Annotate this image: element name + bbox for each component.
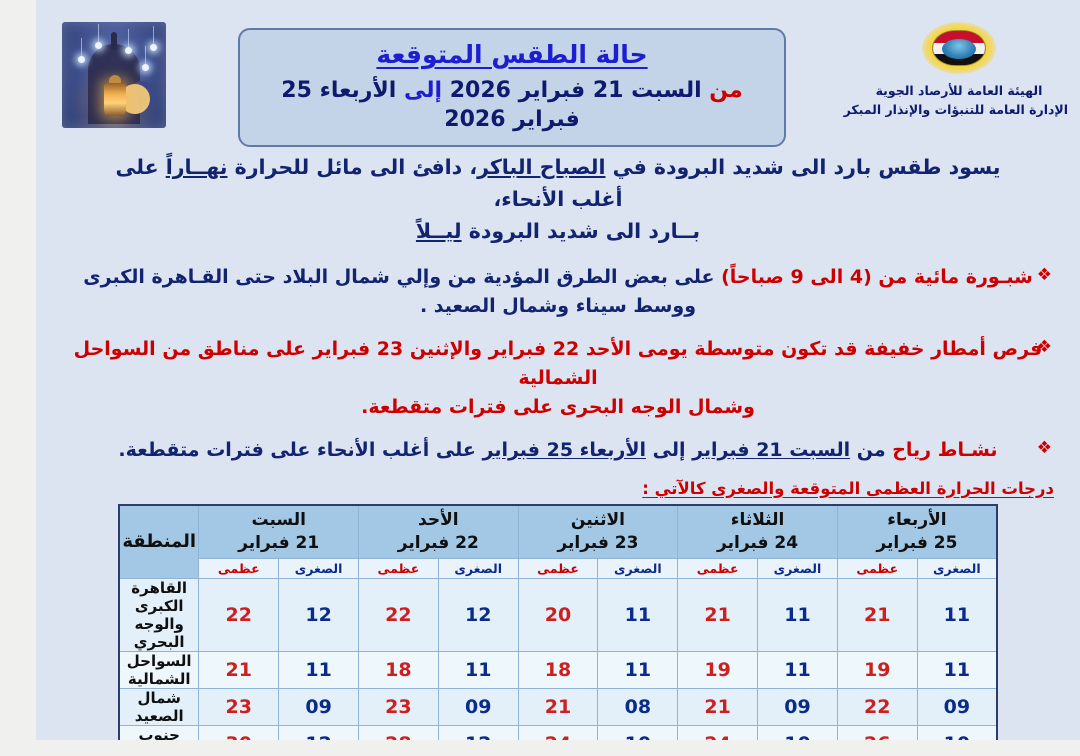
- table-head-sub-row: الصغرى عظمى الصغرى عظمى الصغرى عظمى الصغ…: [119, 558, 997, 578]
- hanging-light-icon: [78, 56, 85, 63]
- cell-max: 19: [837, 651, 917, 688]
- table-row: 11 19 11 19 11 18 11 18 11 21 السواحل ال…: [119, 651, 997, 688]
- cell-max: 21: [678, 578, 758, 651]
- day-header-tue: الثلاثاء 24 فبراير: [678, 505, 838, 559]
- organization-block: الهيئة العامة للأرصاد الجوية الإدارة الع…: [850, 20, 1068, 120]
- emy-logo-icon: [920, 20, 998, 76]
- table-row: 10 26 10 24 10 24 12 28 12 30 جنوب الصعي…: [119, 725, 997, 740]
- cell-min: 12: [279, 578, 359, 651]
- region-column-header: المنطقة: [119, 505, 199, 579]
- cell-region: السواحل الشمالية: [119, 651, 199, 688]
- cell-max: 30: [199, 725, 279, 740]
- sub-header-max: عظمى: [199, 558, 279, 578]
- lantern-icon: [104, 82, 126, 116]
- forecast-document: حالة الطقس المتوقعة من السبت 21 فبراير 2…: [36, 0, 1080, 740]
- table-head-days-row: الأربعاء 25 فبراير الثلاثاء 24 فبراير ال…: [119, 505, 997, 559]
- day-date: 21 فبراير: [238, 533, 319, 553]
- cell-max: 22: [359, 578, 439, 651]
- sub-header-max: عظمى: [359, 558, 439, 578]
- intro-line1-underline2: نهــاراً: [166, 155, 228, 179]
- hanging-light-icon: [95, 42, 102, 49]
- cell-min: 09: [758, 688, 838, 725]
- cell-min: 11: [917, 651, 997, 688]
- cell-min: 10: [758, 725, 838, 740]
- cell-max: 21: [518, 688, 598, 725]
- table-row: 11 21 11 21 11 20 12 22 12 22 القاهرة ال…: [119, 578, 997, 651]
- cell-max: 21: [199, 651, 279, 688]
- bullet-marker-icon: ❖: [1037, 437, 1052, 461]
- day-name: الاثنين: [571, 510, 625, 530]
- bullet-fog: ❖ شبـورة مائية من (4 الى 9 صباحاً) على ب…: [62, 263, 1054, 321]
- table-row: 09 22 09 21 08 21 09 23 09 23 شمال الصعي…: [119, 688, 997, 725]
- cell-min: 11: [598, 578, 678, 651]
- sub-header-min: الصغرى: [917, 558, 997, 578]
- sub-header-min: الصغرى: [598, 558, 678, 578]
- sub-header-min: الصغرى: [758, 558, 838, 578]
- cell-min: 11: [917, 578, 997, 651]
- bullet-rain-line1: فرص أمطار خفيفة قد تكون متوسطة يومى الأح…: [74, 338, 1043, 389]
- day-header-sat: السبت 21 فبراير: [199, 505, 359, 559]
- table-head: الأربعاء 25 فبراير الثلاثاء 24 فبراير ال…: [119, 505, 997, 579]
- intro-line1-b: ، دافئ الى مائل للحرارة: [228, 155, 478, 179]
- cell-max: 22: [199, 578, 279, 651]
- cell-min: 12: [438, 725, 518, 740]
- cell-min: 12: [279, 725, 359, 740]
- ramadan-lantern-image: [62, 22, 166, 128]
- bullet-marker-icon: ❖: [1037, 264, 1052, 288]
- cell-max: 18: [359, 651, 439, 688]
- cell-max: 28: [359, 725, 439, 740]
- sub-header-max: عظمى: [518, 558, 598, 578]
- day-header-sun: الأحد 22 فبراير: [359, 505, 519, 559]
- cell-max: 23: [359, 688, 439, 725]
- cell-region: جنوب الصعيد: [119, 725, 199, 740]
- bullet-wind-mid-a: من: [850, 439, 892, 461]
- cell-max: 22: [837, 688, 917, 725]
- cell-max: 23: [199, 688, 279, 725]
- intro-line1-a: يسود طقس بارد الى شديد البرودة في: [605, 155, 1000, 179]
- cell-region: شمال الصعيد: [119, 688, 199, 725]
- bullet-fog-rest: على بعض الطرق المؤدية من وإلي شمال البلا…: [83, 266, 721, 288]
- cell-max: 19: [678, 651, 758, 688]
- cell-min: 09: [917, 688, 997, 725]
- day-date: 25 فبراير: [876, 533, 957, 553]
- hanging-light-icon: [150, 44, 157, 51]
- cell-max: 20: [518, 578, 598, 651]
- intro-line2-underline: ليــلاً: [416, 219, 462, 243]
- sub-header-min: الصغرى: [279, 558, 359, 578]
- cell-max: 24: [518, 725, 598, 740]
- page-bottom-margin: [0, 740, 1080, 756]
- table-body: 11 21 11 21 11 20 12 22 12 22 القاهرة ال…: [119, 578, 997, 740]
- organization-name: الهيئة العامة للأرصاد الجوية: [850, 82, 1068, 101]
- document-body: يسود طقس بارد الى شديد البرودة في الصباح…: [36, 152, 1080, 740]
- bullet-fog-line2: ووسط سيناء وشمال الصعيد .: [420, 295, 696, 317]
- cell-min: 10: [917, 725, 997, 740]
- table-caption: درجات الحرارة العظمى المتوقعة والصغرى كا…: [62, 479, 1054, 498]
- document-header: حالة الطقس المتوقعة من السبت 21 فبراير 2…: [36, 0, 1080, 148]
- minaret-spire-shape: [111, 32, 117, 50]
- day-date: 22 فبراير: [398, 533, 479, 553]
- cell-min: 12: [438, 578, 518, 651]
- day-name: الأحد: [418, 510, 459, 530]
- bullet-rain: ❖ فرص أمطار خفيفة قد تكون متوسطة يومى ال…: [62, 335, 1054, 422]
- cell-min: 09: [438, 688, 518, 725]
- cell-min: 11: [438, 651, 518, 688]
- bullet-wind: ❖ نشـاط رياح من السبت 21 فبراير إلى الأر…: [62, 436, 1054, 465]
- day-date: 24 فبراير: [717, 533, 798, 553]
- bullet-wind-mid-c: على أغلب الأنحاء على فترات متقطعة.: [118, 439, 482, 461]
- day-header-mon: الاثنين 23 فبراير: [518, 505, 678, 559]
- globe-icon: [942, 39, 976, 59]
- page-title: حالة الطقس المتوقعة: [250, 39, 774, 70]
- sub-header-min: الصغرى: [438, 558, 518, 578]
- intro-line2-a: بــارد الى شديد البرودة: [462, 219, 701, 243]
- cell-max: 18: [518, 651, 598, 688]
- hanging-light-icon: [142, 64, 149, 71]
- sub-header-max: عظمى: [678, 558, 758, 578]
- cell-max: 26: [837, 725, 917, 740]
- cell-min: 11: [598, 651, 678, 688]
- cell-min: 11: [758, 651, 838, 688]
- date-to-word: إلى: [404, 78, 442, 103]
- day-name: الأربعاء: [887, 510, 946, 530]
- date-from-word: من: [709, 78, 742, 103]
- day-date: 23 فبراير: [557, 533, 638, 553]
- bullet-fog-highlight: شبـورة مائية من (4 الى 9 صباحاً): [721, 266, 1033, 288]
- bullet-wind-date-from: السبت 21 فبراير: [692, 439, 850, 461]
- hanging-light-icon: [125, 47, 132, 54]
- cell-min: 10: [598, 725, 678, 740]
- bullet-list: ❖ شبـورة مائية من (4 الى 9 صباحاً) على ب…: [62, 263, 1054, 464]
- intro-line1-underline1: الصباح الباكر: [477, 155, 605, 179]
- bullet-wind-mid-b: إلى: [646, 439, 692, 461]
- bullet-wind-highlight: نشـاط رياح: [892, 439, 997, 461]
- flag-shield-icon: [933, 31, 985, 65]
- bullet-rain-line2: وشمال الوجه البحرى على فترات متقطعة.: [361, 396, 755, 418]
- cell-min: 08: [598, 688, 678, 725]
- cell-region: القاهرة الكبرى والوجه البحري: [119, 578, 199, 651]
- day-name: السبت: [251, 510, 305, 530]
- date-from: السبت 21 فبراير 2026: [450, 78, 702, 103]
- temperature-table: الأربعاء 25 فبراير الثلاثاء 24 فبراير ال…: [118, 504, 998, 740]
- sub-header-max: عظمى: [837, 558, 917, 578]
- cell-min: 11: [758, 578, 838, 651]
- cell-min: 11: [279, 651, 359, 688]
- day-name: الثلاثاء: [731, 510, 785, 530]
- cell-max: 21: [678, 688, 758, 725]
- cell-min: 09: [279, 688, 359, 725]
- cell-max: 24: [678, 725, 758, 740]
- department-name: الإدارة العامة للتنبؤات والإنذار المبكر: [850, 101, 1068, 120]
- bullet-wind-date-to: الأربعاء 25 فبراير: [483, 439, 646, 461]
- cell-max: 21: [837, 578, 917, 651]
- title-box: حالة الطقس المتوقعة من السبت 21 فبراير 2…: [238, 28, 786, 147]
- forecast-date-range: من السبت 21 فبراير 2026 إلى الأربعاء 25 …: [250, 77, 774, 134]
- bullet-marker-icon: ❖: [1037, 336, 1052, 360]
- day-header-wed: الأربعاء 25 فبراير: [837, 505, 997, 559]
- intro-paragraph: يسود طقس بارد الى شديد البرودة في الصباح…: [62, 152, 1054, 247]
